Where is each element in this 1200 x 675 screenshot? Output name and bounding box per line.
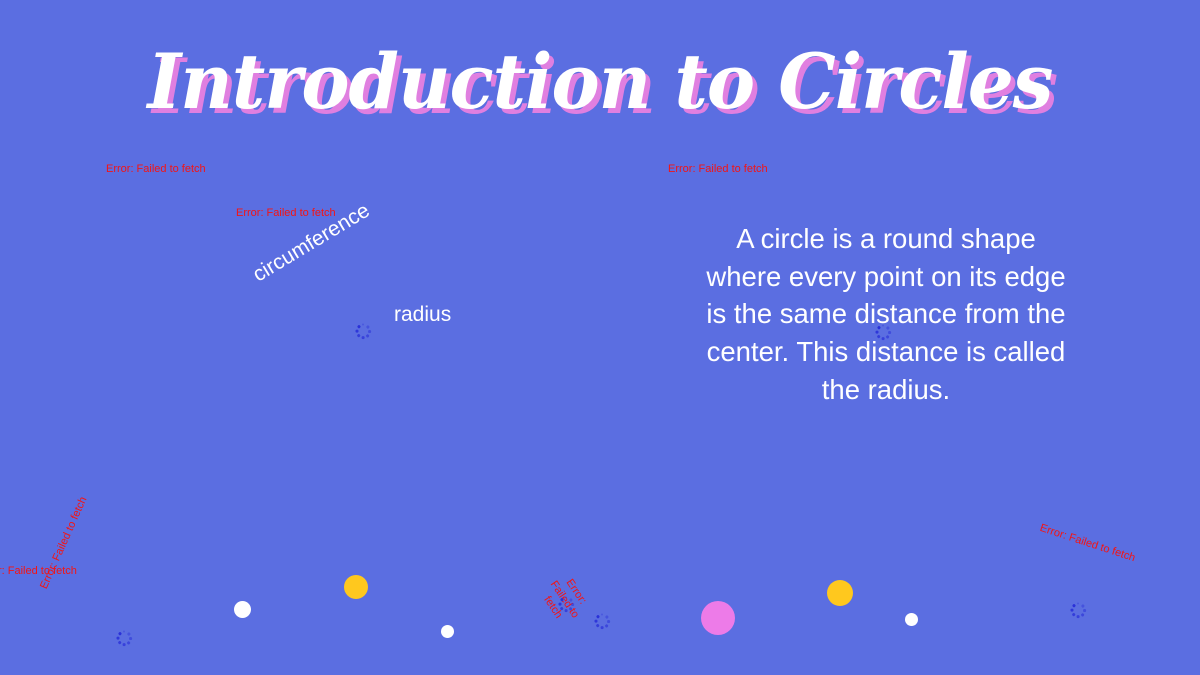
spinner-dot	[357, 334, 361, 338]
spinner-dot	[569, 607, 573, 611]
spinner-dot	[558, 603, 561, 606]
spinner-dot	[1072, 604, 1076, 608]
yellow-dot-1	[344, 575, 368, 599]
loading-spinner-icon	[874, 323, 892, 341]
white-dot-1	[234, 601, 251, 618]
loading-spinner-icon	[1069, 601, 1087, 619]
spinner-dot	[362, 323, 365, 326]
spinner-dot	[596, 624, 600, 628]
spinner-dot	[888, 331, 891, 334]
spinner-dot	[886, 326, 890, 330]
loading-spinner-icon	[557, 595, 575, 613]
spinner-dot	[1070, 609, 1073, 612]
spinner-dot	[366, 325, 370, 329]
spinner-dot	[1083, 609, 1086, 612]
spinner-dot	[882, 337, 885, 340]
spinner-dot	[594, 620, 597, 623]
spinner-dot	[1077, 602, 1080, 605]
spinner-dot	[366, 334, 370, 338]
spinner-dot	[569, 598, 573, 602]
spinner-dot	[560, 607, 564, 611]
spinner-dot	[355, 330, 358, 333]
spinner-dot	[123, 630, 126, 633]
spinner-dot	[882, 324, 885, 327]
white-dot-2	[441, 625, 454, 638]
spinner-dot	[357, 325, 361, 329]
yellow-dot-2	[827, 580, 853, 606]
spinner-dot	[596, 615, 600, 619]
spinner-dot	[565, 609, 568, 612]
error-message: r: Failed to fetch	[0, 565, 77, 579]
spinner-dot	[605, 624, 609, 628]
spinner-dot	[1077, 615, 1080, 618]
loading-spinner-icon	[354, 322, 372, 340]
slide-canvas: Introduction to Circles A circle is a ro…	[0, 0, 1200, 675]
spinner-dot	[127, 632, 131, 636]
spinner-dot	[116, 637, 119, 640]
spinner-dot	[560, 598, 564, 602]
loading-spinner-icon	[115, 629, 133, 647]
body-paragraph: A circle is a round shape where every po…	[700, 220, 1072, 408]
spinner-dot	[605, 615, 609, 619]
spinner-dot	[877, 335, 881, 339]
spinner-dot	[118, 632, 122, 636]
spinner-dot	[875, 331, 878, 334]
spinner-dot	[1081, 604, 1085, 608]
loading-spinner-icon	[593, 612, 611, 630]
error-message: Error: Failed to fetch	[668, 163, 768, 177]
error-message: Error: Failed to fetch	[106, 163, 206, 177]
spinner-dot	[1072, 613, 1076, 617]
spinner-dot	[129, 637, 132, 640]
spinner-dot	[118, 641, 122, 645]
pink-dot-1	[701, 601, 735, 635]
error-message: Error: Failed to fetch	[1038, 522, 1137, 566]
spinner-dot	[127, 641, 131, 645]
diagram-label-radius: radius	[394, 303, 451, 327]
spinner-dot	[368, 330, 371, 333]
spinner-dot	[886, 335, 890, 339]
spinner-dot	[123, 643, 126, 646]
spinner-dot	[362, 336, 365, 339]
spinner-dot	[601, 613, 604, 616]
spinner-dot	[565, 596, 568, 599]
spinner-dot	[571, 603, 574, 606]
spinner-dot	[601, 626, 604, 629]
page-title: Introduction to Circles	[30, 44, 1170, 120]
spinner-dot	[877, 326, 881, 330]
spinner-dot	[1081, 613, 1085, 617]
spinner-dot	[607, 620, 610, 623]
white-dot-3	[905, 613, 918, 626]
error-message: Error: Failed to fetch	[236, 207, 336, 221]
